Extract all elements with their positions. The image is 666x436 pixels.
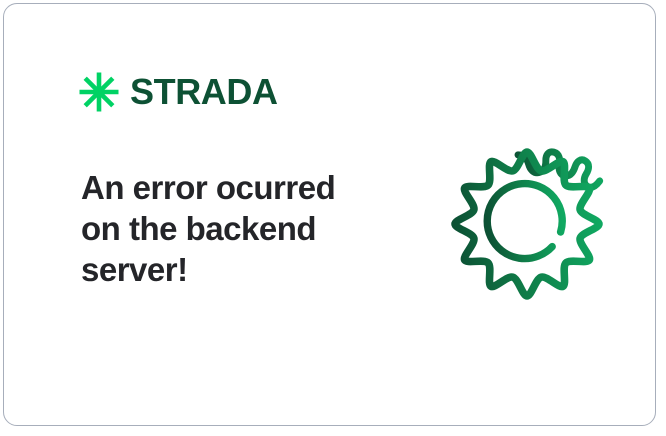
error-message: An error ocurred on the backend server! [81,167,381,290]
brand-wordmark: STRADA [130,74,278,110]
brand-logo: STRADA [78,71,278,113]
error-card: STRADA An error ocurred on the backend s… [3,3,656,426]
strada-asterisk-icon [78,71,120,113]
